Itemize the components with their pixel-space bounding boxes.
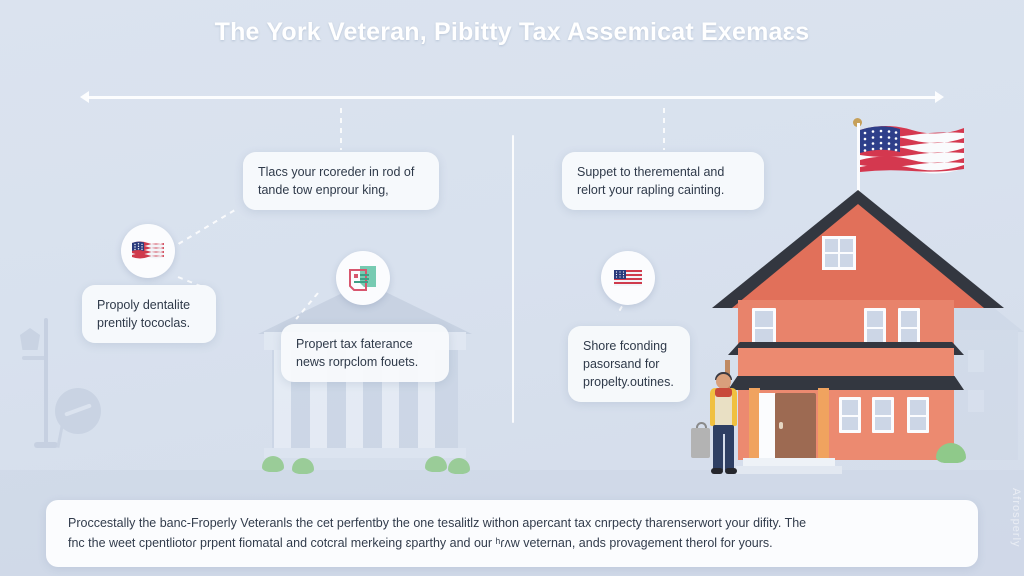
bag: [691, 428, 710, 458]
veteran-person-figure: [700, 372, 748, 482]
timeline-drop-line: [340, 108, 342, 150]
document-icon: [347, 263, 379, 293]
callout-top-left: Tlacs your rcoreder in rod of tande tow …: [243, 152, 439, 210]
footer-summary-panel: Proccestally the banc-Froperly Veteranls…: [46, 500, 978, 567]
bush: [262, 456, 284, 472]
callout-text: Suppet to theremental and relort your ra…: [577, 165, 724, 197]
right-flag-badge: [601, 251, 655, 305]
callout-text: Propoly dentalite prentily tococlas.: [97, 298, 190, 330]
center-document-badge: [336, 251, 390, 305]
bush: [425, 456, 447, 472]
timeline-drop-line: [663, 108, 665, 150]
window: [864, 308, 886, 346]
timeline-arrow-right: [935, 91, 944, 103]
bush: [936, 443, 966, 463]
timeline-axis: [88, 96, 936, 99]
us-flag-icon: [612, 267, 644, 290]
window: [872, 397, 894, 433]
main-house-illustration: [712, 190, 1004, 490]
window: [907, 397, 929, 433]
callout-text: Shore fconding pasorsand for propelty.ou…: [583, 339, 674, 389]
watermark: Afrosperly: [1010, 488, 1022, 548]
bush: [448, 458, 470, 474]
window: [752, 308, 776, 346]
us-flag-icon: [131, 239, 165, 263]
callout-center: Propert tax faterance news rorpclom foue…: [281, 324, 449, 382]
rooftop-flag: [860, 124, 964, 191]
callout-text: Tlacs your rcoreder in rod of tande tow …: [258, 165, 414, 197]
attic-window: [822, 236, 856, 270]
callout-text: Propert tax faterance news rorpclom foue…: [296, 337, 418, 369]
section-divider: [512, 135, 514, 423]
window: [839, 397, 861, 433]
callout-mid-right: Shore fconding pasorsand for propelty.ou…: [568, 326, 690, 402]
us-flag-icon: [860, 124, 964, 186]
callout-mid-left: Propoly dentalite prentily tococlas.: [82, 285, 216, 343]
connector-line: [169, 209, 235, 250]
footer-line-2: fnc the weet cpentliotoɾ prpent fiomatal…: [68, 533, 956, 553]
page-title: The York Veteran, Pibitty Tax Assemicat …: [0, 18, 1024, 47]
window: [898, 308, 920, 346]
infographic-canvas: The York Veteran, Pibitty Tax Assemicat …: [0, 0, 1024, 576]
left-flag-badge: [121, 224, 175, 278]
timeline-arrow-left: [80, 91, 89, 103]
footer-line-1: Proccestally the banc-Froperly Veteranls…: [68, 513, 956, 533]
bush: [292, 458, 314, 474]
